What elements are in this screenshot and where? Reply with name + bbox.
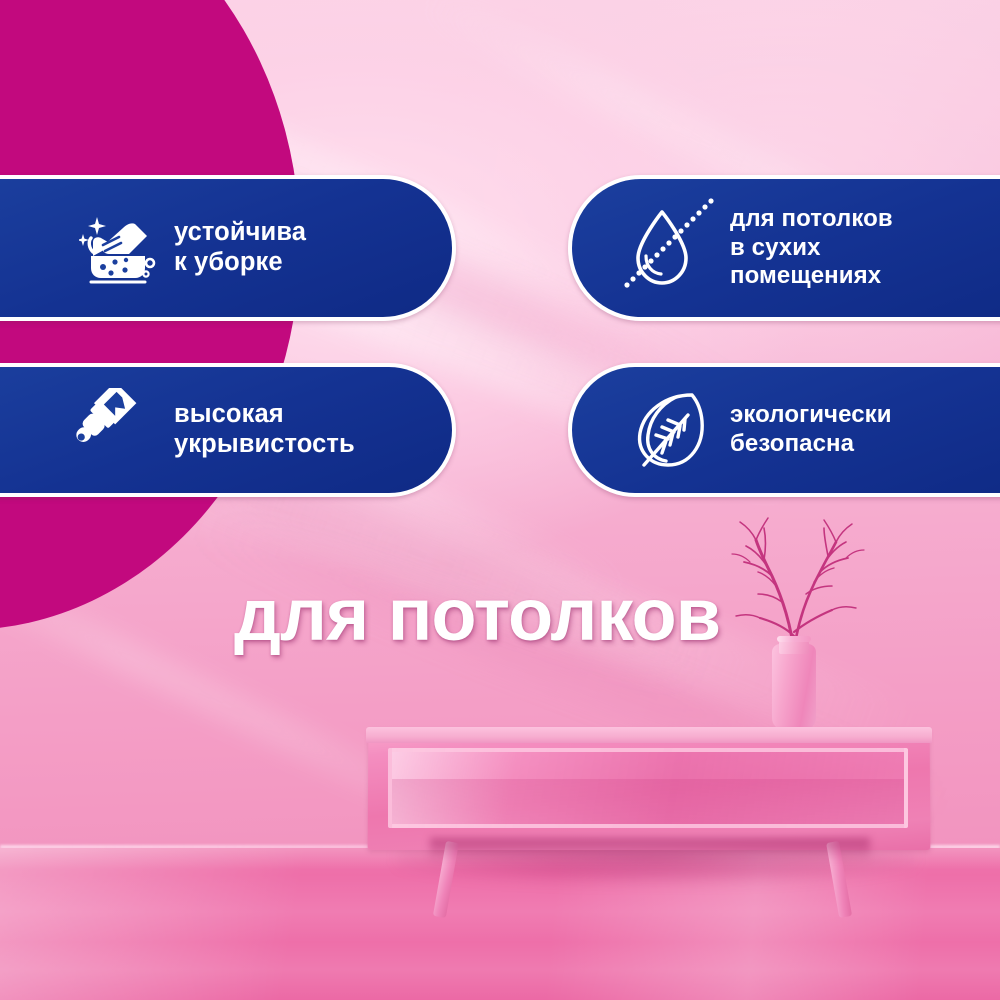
- paint-brush-icon: [70, 388, 166, 472]
- feature-badge-cleanable[interactable]: устойчива к уборке: [0, 175, 456, 321]
- feature-label-coverage: высокая укрывистость: [174, 400, 355, 460]
- hand-sponge-cleaning-icon: [70, 212, 166, 284]
- feature-label-cleanable: устойчива к уборке: [174, 218, 306, 278]
- feature-label-eco: экологически безопасна: [730, 401, 892, 459]
- console-under-shadow: [430, 838, 870, 860]
- water-drop-crossed-icon: [618, 198, 722, 298]
- feature-badge-dry-rooms[interactable]: для потолков в сухих помещениях: [568, 175, 1000, 321]
- leaf-eco-icon: [618, 385, 722, 475]
- console-table: [368, 728, 930, 850]
- console-open-shelf: [388, 748, 908, 828]
- vase: [772, 644, 816, 730]
- vase-rim: [777, 636, 811, 642]
- feature-label-dry-rooms: для потолков в сухих помещениях: [730, 205, 893, 291]
- page-title: для потолков: [234, 578, 720, 652]
- feature-badge-coverage[interactable]: высокая укрывистость: [0, 363, 456, 497]
- dried-branches-decor: [706, 516, 886, 650]
- product-banner: для потолков устойчив: [0, 0, 1000, 1000]
- feature-badge-eco[interactable]: экологически безопасна: [568, 363, 1000, 497]
- console-top: [366, 727, 932, 743]
